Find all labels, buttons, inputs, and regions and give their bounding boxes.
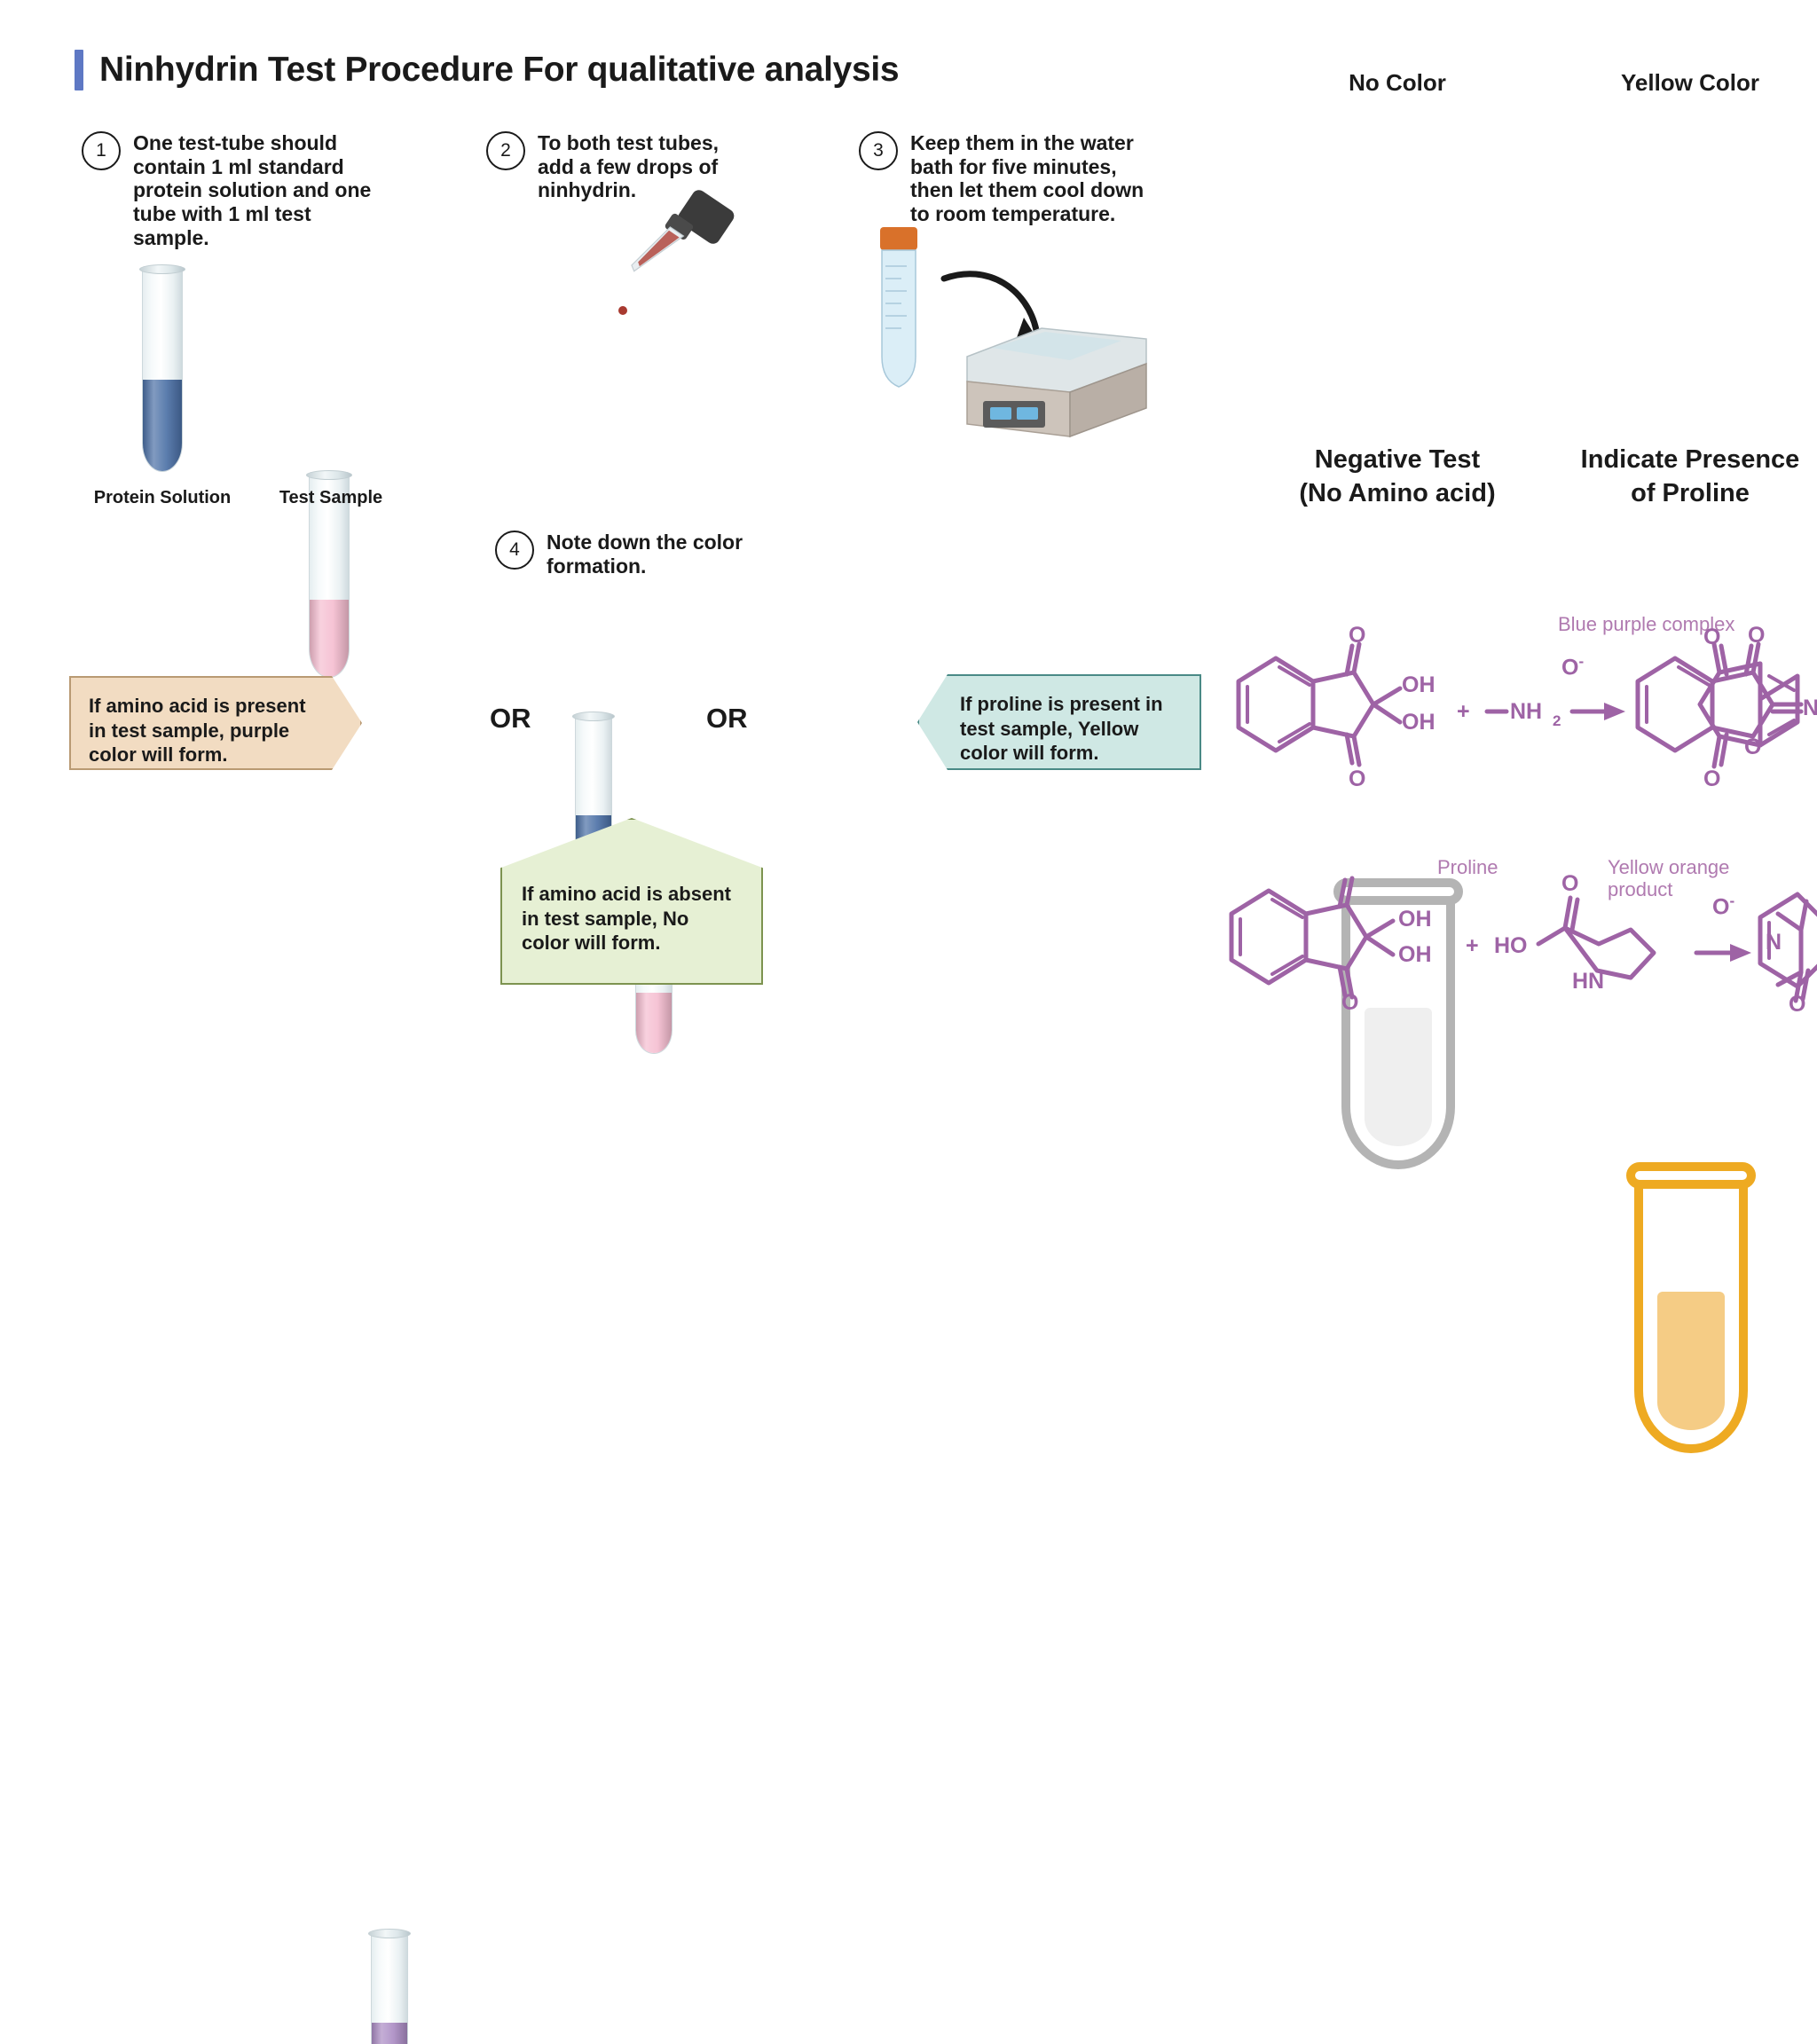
ninhydrin-dropper-icon: [564, 186, 751, 328]
tube-fill: [143, 380, 182, 472]
result-1-bottom-label-2: (No Amino acid): [1269, 477, 1526, 511]
o-atom: O: [1349, 623, 1365, 648]
step-4-number: 4: [495, 531, 534, 570]
result-tube-yellow-color: [1634, 1169, 1748, 1453]
result-tube-fill: [1657, 1292, 1725, 1430]
oh-group: OH: [1402, 672, 1436, 697]
svg-text:O: O: [1341, 990, 1358, 1015]
tube-label-protein: Protein Solution: [71, 488, 254, 508]
tube-rim: [572, 711, 615, 721]
tube-fill: [310, 600, 349, 677]
tube-glass: [142, 266, 183, 472]
sample-tube-icon: [868, 224, 935, 410]
step-4-text: Note down the color formation.: [547, 531, 752, 578]
result-2-bottom-label-2: of Proline: [1561, 477, 1817, 511]
or-label-1: OR: [490, 703, 531, 735]
result-1-bottom-label-1: Negative Test: [1269, 444, 1526, 477]
svg-text:OH: OH: [1398, 942, 1432, 967]
step-3-number: 3: [859, 131, 898, 170]
reaction-2-n-atom: N: [1766, 930, 1782, 955]
callout-purple: If amino acid is present in test sample,…: [69, 676, 362, 770]
outcome-tube-1a: [371, 1930, 408, 2044]
svg-text:O: O: [1703, 625, 1720, 649]
step-1: 1 One test-tube should contain 1 ml stan…: [82, 131, 374, 249]
title-text: Ninhydrin Test Procedure For qualitative…: [99, 51, 899, 90]
svg-text:HO: HO: [1494, 933, 1528, 958]
result-2-bottom-label-1: Indicate Presence: [1561, 444, 1817, 477]
svg-text:OH: OH: [1398, 907, 1432, 932]
reaction-2-proline-label: Proline: [1437, 857, 1498, 879]
result-2-top-label: Yellow Color: [1561, 69, 1817, 97]
step-3: 3 Keep them in the water bath for five m…: [859, 131, 1152, 226]
reaction-2-o-minus: O-: [1712, 892, 1734, 920]
o-atom: O: [1349, 766, 1365, 791]
reaction-1-o-minus: O-: [1561, 653, 1584, 680]
svg-text:O: O: [1561, 871, 1578, 896]
tube-rim: [139, 264, 185, 274]
svg-text:O: O: [1703, 766, 1720, 791]
step-1-text: One test-tube should contain 1 ml standa…: [133, 131, 374, 249]
tube-protein-solution: [142, 266, 183, 472]
svg-text:NH: NH: [1510, 699, 1542, 724]
title-accent-bar: [75, 50, 83, 90]
water-bath-icon: [956, 316, 1152, 449]
callout-yellow: If proline is present in test sample, Ye…: [917, 674, 1201, 770]
svg-text:+: +: [1457, 699, 1470, 724]
result-1-top-label: No Color: [1269, 69, 1526, 97]
step-1-number: 1: [82, 131, 121, 170]
tube-label-test-sample: Test Sample: [240, 488, 422, 508]
result-tube-cap: [1626, 1162, 1756, 1189]
step-3-text: Keep them in the water bath for five min…: [910, 131, 1152, 226]
tube-fill: [636, 993, 672, 1053]
result-tube-fill: [1365, 1008, 1432, 1146]
callout-no-color: If amino acid is absent in test sample, …: [500, 818, 763, 985]
or-label-2: OR: [706, 703, 748, 735]
page-title: Ninhydrin Test Procedure For qualitative…: [75, 50, 899, 90]
svg-text:+: +: [1466, 933, 1479, 958]
step-2-number: 2: [486, 131, 525, 170]
svg-text:2: 2: [1553, 712, 1561, 729]
oh-group: OH: [1402, 710, 1436, 735]
tube-rim: [306, 470, 352, 480]
step-4: 4 Note down the color formation.: [495, 531, 752, 578]
reaction-1-product-right: O O: [1668, 637, 1817, 788]
svg-text:O: O: [1789, 992, 1805, 1017]
